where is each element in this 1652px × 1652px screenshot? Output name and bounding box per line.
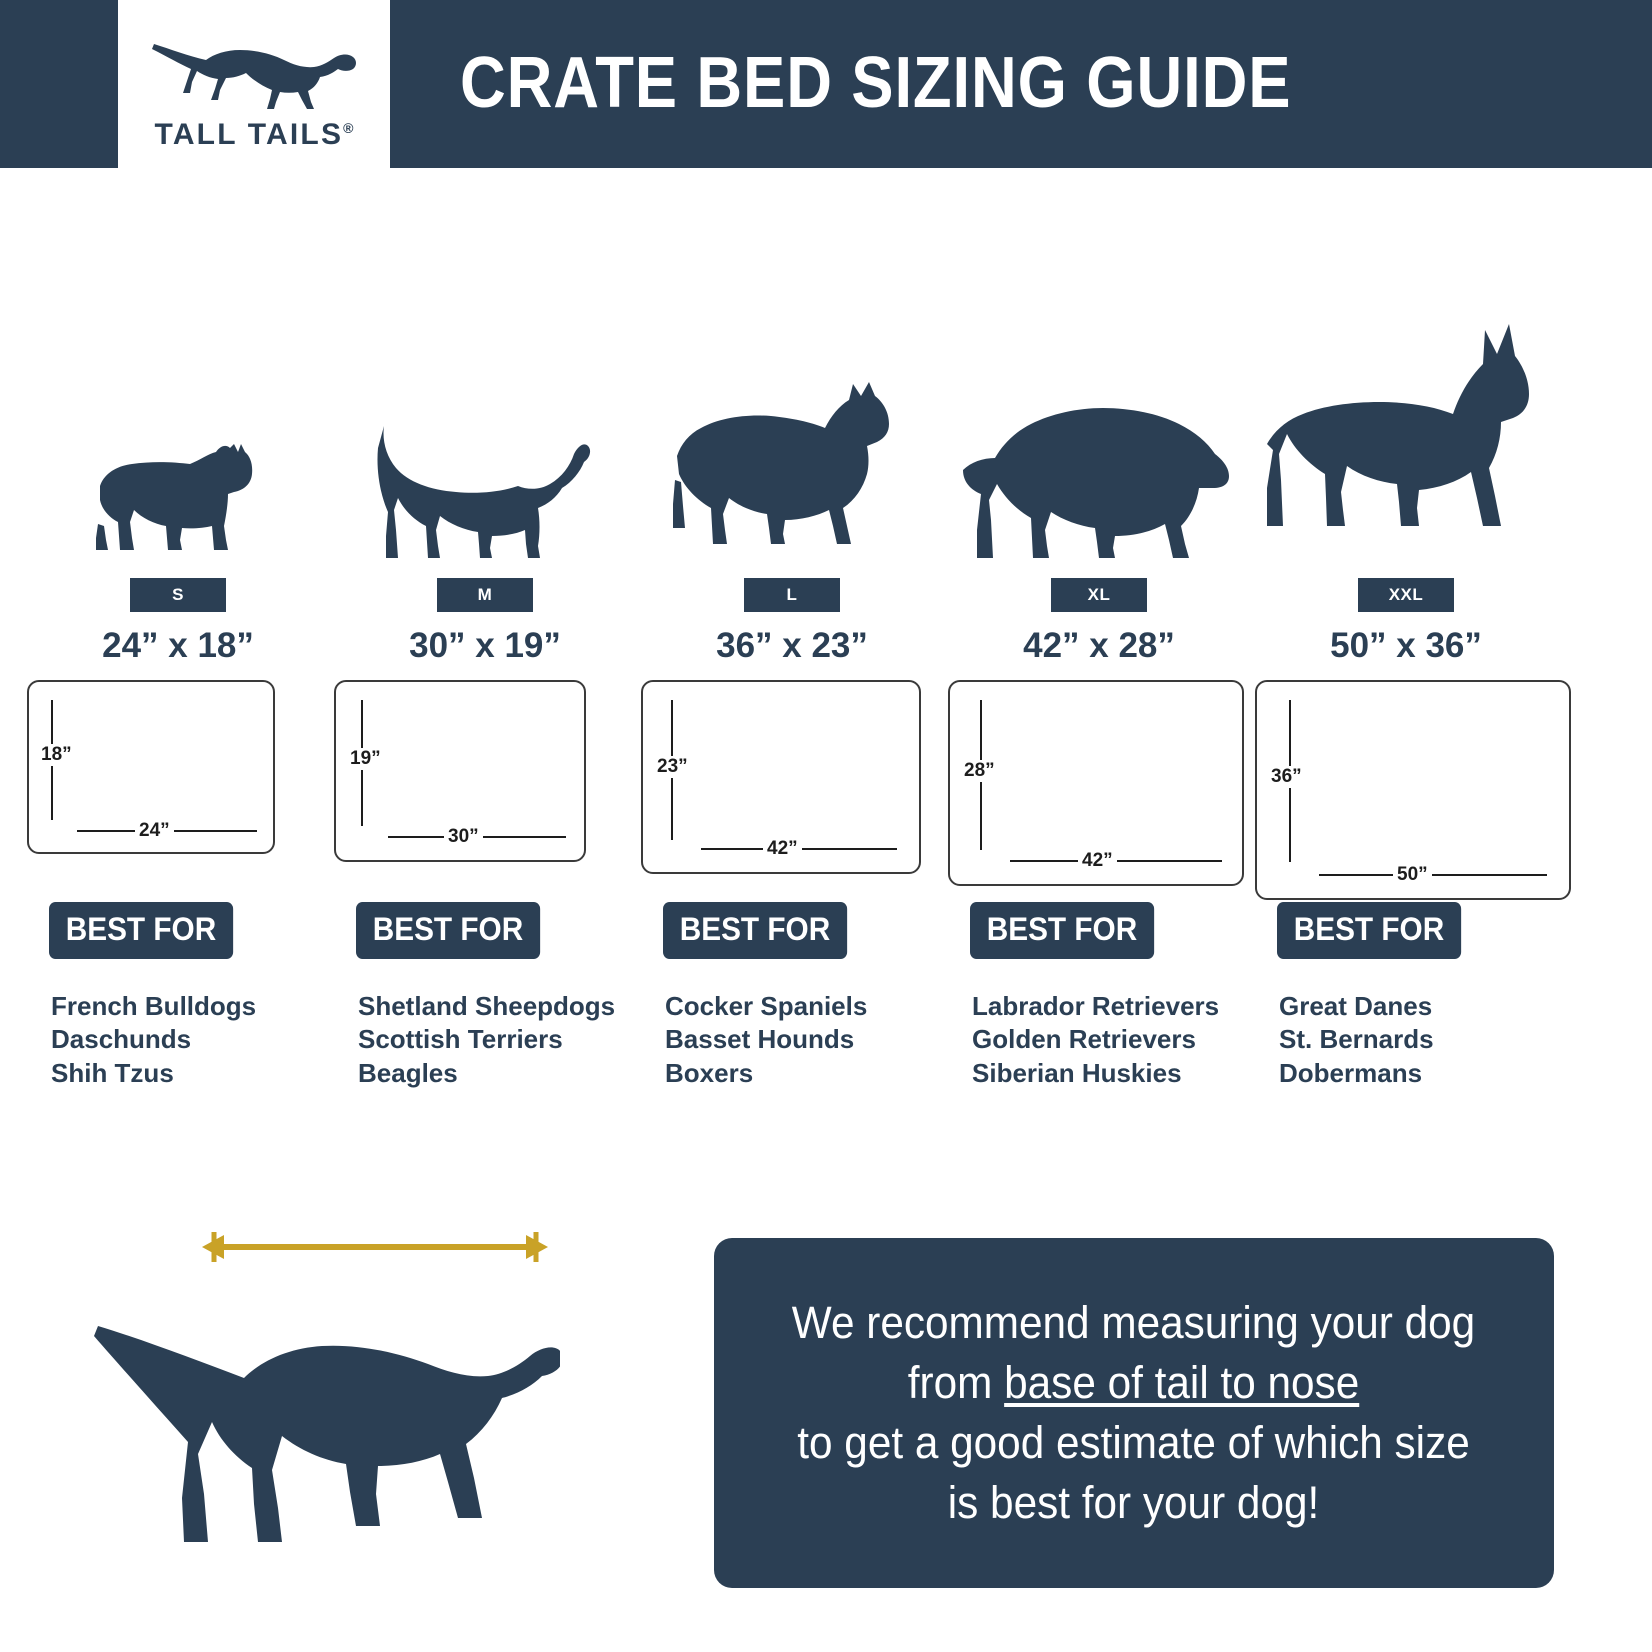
breed-item: Shih Tzus xyxy=(51,1057,256,1090)
breed-item: Basset Hounds xyxy=(665,1023,867,1056)
size-badge-l: L xyxy=(744,578,840,612)
bed-height-label-xxl: 36” xyxy=(1267,766,1306,788)
reco-line-2-prefix: from xyxy=(908,1357,1004,1408)
pointer-dog-icon xyxy=(148,36,360,112)
page-title: CRATE BED SIZING GUIDE xyxy=(460,42,1291,124)
breed-item: Labrador Retrievers xyxy=(972,990,1219,1023)
bed-diagram-xxl: 36” 50” xyxy=(1255,680,1571,900)
size-badge-xl: XL xyxy=(1051,578,1147,612)
boxer-icon xyxy=(637,290,947,570)
size-dimensions-s: 24” x 18” xyxy=(23,626,333,666)
measuring-illustration xyxy=(90,1230,650,1610)
bed-width-label-xl: 42” xyxy=(1078,850,1117,872)
brand-name: TALL TAILS® xyxy=(118,118,390,152)
best-for-badge-xl: BEST FOR xyxy=(970,902,1154,959)
bed-height-label-l: 23” xyxy=(653,756,692,778)
best-for-badge-xxl: BEST FOR xyxy=(1277,902,1461,959)
bed-width-label-l: 42” xyxy=(763,838,802,860)
bed-width-label-m: 30” xyxy=(444,826,483,848)
bed-width-label-s: 24” xyxy=(135,820,174,842)
labrador-retriever-icon xyxy=(944,290,1254,570)
best-for-badge-s: BEST FOR xyxy=(49,902,233,959)
size-badge-xxl: XXL xyxy=(1358,578,1454,612)
best-for-badge-m: BEST FOR xyxy=(356,902,540,959)
french-bulldog-icon xyxy=(23,290,333,570)
size-dimensions-m: 30” x 19” xyxy=(330,626,640,666)
reco-line-4: is best for your dog! xyxy=(948,1477,1319,1528)
breed-list-xxl: Great Danes St. Bernards Dobermans xyxy=(1279,990,1434,1090)
reco-line-3: to get a good estimate of which size xyxy=(798,1417,1470,1468)
recommendation-text: We recommend measuring your dog from bas… xyxy=(762,1293,1506,1532)
breed-item: St. Bernards xyxy=(1279,1023,1434,1056)
recommendation-panel: We recommend measuring your dog from bas… xyxy=(714,1238,1554,1588)
size-dimensions-xxl: 50” x 36” xyxy=(1251,626,1561,666)
bed-height-label-xl: 28” xyxy=(960,760,999,782)
doberman-icon xyxy=(1251,290,1561,570)
bed-diagram-xl: 28” 42” xyxy=(948,680,1244,886)
breed-item: Dobermans xyxy=(1279,1057,1434,1090)
bed-diagram-s: 18” 24” xyxy=(27,680,275,854)
beagle-icon xyxy=(330,290,640,570)
width-measure-line xyxy=(1319,874,1547,876)
breed-list-s: French Bulldogs Daschunds Shih Tzus xyxy=(51,990,256,1090)
brand-name-text: TALL TAILS xyxy=(155,118,344,151)
bed-height-label-s: 18” xyxy=(37,744,76,766)
bed-diagram-m: 19” 30” xyxy=(334,680,586,862)
bed-width-label-xxl: 50” xyxy=(1393,864,1432,886)
registered-trademark-icon: ® xyxy=(343,120,353,136)
bed-diagram-l: 23” 42” xyxy=(641,680,921,874)
breed-item: Beagles xyxy=(358,1057,615,1090)
pointer-dog-measure-icon xyxy=(90,1278,560,1583)
size-columns: S 24” x 18” 18” 24” BEST FOR French Bull… xyxy=(0,290,1652,1120)
size-dimensions-l: 36” x 23” xyxy=(637,626,947,666)
size-badge-s: S xyxy=(130,578,226,612)
size-badge-m: M xyxy=(437,578,533,612)
best-for-badge-l: BEST FOR xyxy=(663,902,847,959)
breed-item: Boxers xyxy=(665,1057,867,1090)
bed-height-label-m: 19” xyxy=(346,748,385,770)
breed-list-l: Cocker Spaniels Basset Hounds Boxers xyxy=(665,990,867,1090)
double-headed-arrow-icon xyxy=(200,1230,550,1269)
breed-item: Siberian Huskies xyxy=(972,1057,1219,1090)
breed-item: French Bulldogs xyxy=(51,990,256,1023)
breed-item: Golden Retrievers xyxy=(972,1023,1219,1056)
breed-item: Shetland Sheepdogs xyxy=(358,990,615,1023)
breed-item: Daschunds xyxy=(51,1023,256,1056)
breed-list-m: Shetland Sheepdogs Scottish Terriers Bea… xyxy=(358,990,615,1090)
brand-logo-banner: TALL TAILS® xyxy=(118,0,390,246)
breed-list-xl: Labrador Retrievers Golden Retrievers Si… xyxy=(972,990,1219,1090)
breed-item: Cocker Spaniels xyxy=(665,990,867,1023)
breed-item: Scottish Terriers xyxy=(358,1023,615,1056)
reco-line-2-emphasis: base of tail to nose xyxy=(1005,1357,1360,1408)
breed-item: Great Danes xyxy=(1279,990,1434,1023)
size-dimensions-xl: 42” x 28” xyxy=(944,626,1254,666)
reco-line-1: We recommend measuring your dog xyxy=(792,1297,1475,1348)
